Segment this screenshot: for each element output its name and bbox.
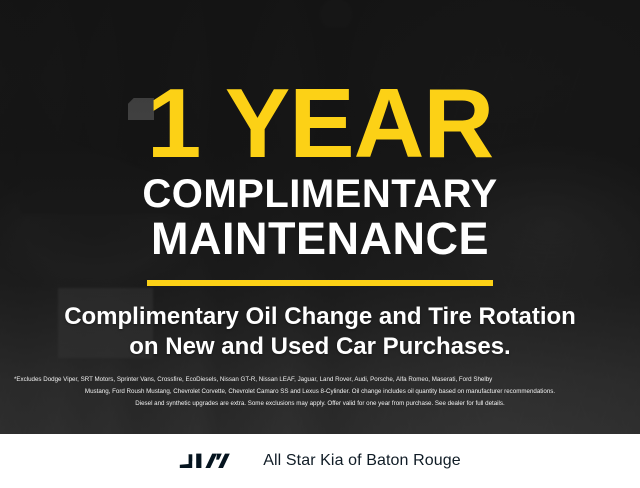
dealer-footer-bar: All Star Kia of Baton Rouge <box>0 434 640 488</box>
promotional-banner: 1 YEAR COMPLIMENTARY MAINTENANCE Complim… <box>0 0 640 488</box>
subheadline-line-1: Complimentary Oil Change and Tire Rotati… <box>64 302 576 332</box>
headline-complimentary: COMPLIMENTARY <box>142 174 497 215</box>
disclaimer-line-3: Diesel and synthetic upgrades are extra.… <box>14 398 626 410</box>
disclaimer-text: *Excludes Dodge Viper, SRT Motors, Sprin… <box>14 374 626 410</box>
disclaimer-line-2: Mustang, Ford Roush Mustang, Chevrolet C… <box>14 386 626 398</box>
kia-logo-icon <box>179 450 245 472</box>
banner-content: 1 YEAR COMPLIMENTARY MAINTENANCE Complim… <box>0 0 640 488</box>
subheadline: Complimentary Oil Change and Tire Rotati… <box>64 302 576 362</box>
disclaimer-line-1: *Excludes Dodge Viper, SRT Motors, Sprin… <box>14 374 626 386</box>
yellow-divider <box>147 280 493 286</box>
subheadline-line-2: on New and Used Car Purchases. <box>64 332 576 362</box>
headline-maintenance: MAINTENANCE <box>151 216 489 262</box>
dealer-name: All Star Kia of Baton Rouge <box>263 452 460 470</box>
headline-year: 1 YEAR <box>147 78 493 168</box>
